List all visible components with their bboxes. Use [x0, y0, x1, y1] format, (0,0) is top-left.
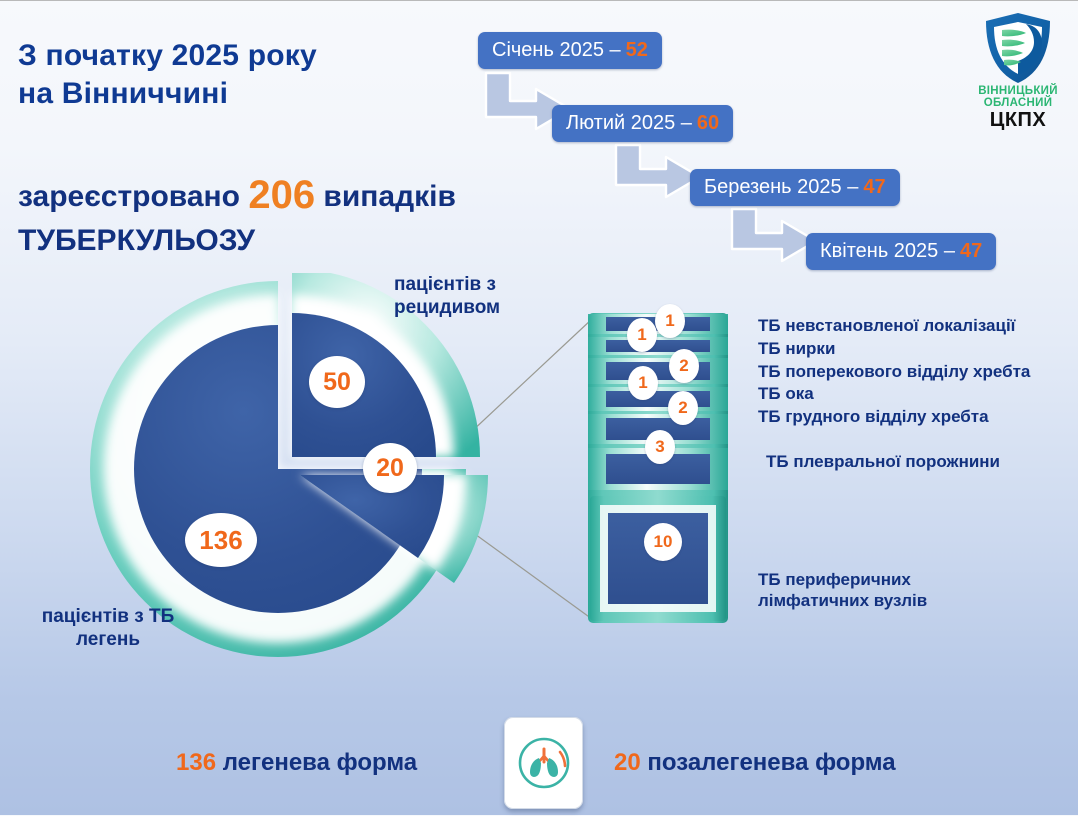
stack-label-pleural: ТБ плевральної порожнини: [766, 451, 1000, 473]
stack-value-pleural: 3: [645, 430, 675, 464]
footer-extrapulmonary: 20 позалегенева форма: [614, 749, 896, 777]
shield-icon: [982, 11, 1054, 85]
organization-logo: ВІННИЦЬКИЙ ОБЛАСНИЙ ЦКПХ: [962, 11, 1074, 133]
stack-label-lymph-line2: лімфатичних вузлів: [758, 590, 1008, 611]
stack-label-lymph-line1: ТБ периферичних: [758, 569, 1008, 590]
extrapulmonary-stack-chart: [588, 313, 728, 623]
logo-line-2: ОБЛАСНИЙ: [962, 98, 1074, 110]
stack-label-eye: ТБ ока: [758, 383, 1030, 405]
pie-label-lungs-line1: пацієнтів з ТБ: [8, 605, 208, 628]
stack-value-thoracic: 2: [668, 391, 698, 425]
stack-value-eye: 1: [628, 366, 658, 400]
stack-label-unknown: ТБ невстановленої локалізації: [758, 315, 1030, 337]
footer-pulmonary-label: легенева форма: [223, 749, 417, 776]
stack-label-lumbar: ТБ поперекового відділу хребта: [758, 361, 1030, 383]
logo-line-1: ВІННИЦЬКИЙ: [962, 86, 1074, 98]
lungs-icon-card: [504, 717, 583, 809]
pie-label-recidiv-line1: пацієнтів з: [394, 273, 500, 296]
pie-label-lungs: пацієнтів з ТБ легень: [8, 605, 208, 651]
stack-label-lymph: ТБ периферичних лімфатичних вузлів: [758, 569, 1008, 612]
stack-label-kidney: ТБ нирки: [758, 338, 1030, 360]
stack-value-lumbar: 2: [669, 349, 699, 383]
pie-value-extrapulmonary: 20: [363, 443, 417, 493]
stack-value-kidney: 1: [627, 318, 657, 352]
lungs-icon: [513, 732, 575, 794]
footer-pulmonary: 136 легенева форма: [176, 749, 417, 777]
pie-value-lungs: 136: [185, 513, 257, 567]
pie-label-recidiv-line2: рецидивом: [394, 296, 500, 319]
stack-label-group: ТБ невстановленої локалізації ТБ нирки Т…: [758, 315, 1030, 429]
pie-value-recidiv: 50: [309, 356, 365, 408]
pie-label-lungs-line2: легень: [8, 628, 208, 651]
footer-extrapulmonary-label: позалегенева форма: [647, 749, 895, 776]
footer-extrapulmonary-value: 20: [614, 749, 641, 776]
footer-pulmonary-value: 136: [176, 749, 216, 776]
logo-line-3: ЦКПХ: [962, 110, 1074, 130]
stack-value-unknown: 1: [655, 304, 685, 338]
stack-value-lymph: 10: [644, 523, 682, 561]
stack-label-thoracic: ТБ грудного відділу хребта: [758, 406, 1030, 428]
pie-label-recidiv: пацієнтів з рецидивом: [394, 273, 500, 319]
infographic-canvas: З початку 2025 року на Вінниччині зареєс…: [0, 1, 1078, 815]
